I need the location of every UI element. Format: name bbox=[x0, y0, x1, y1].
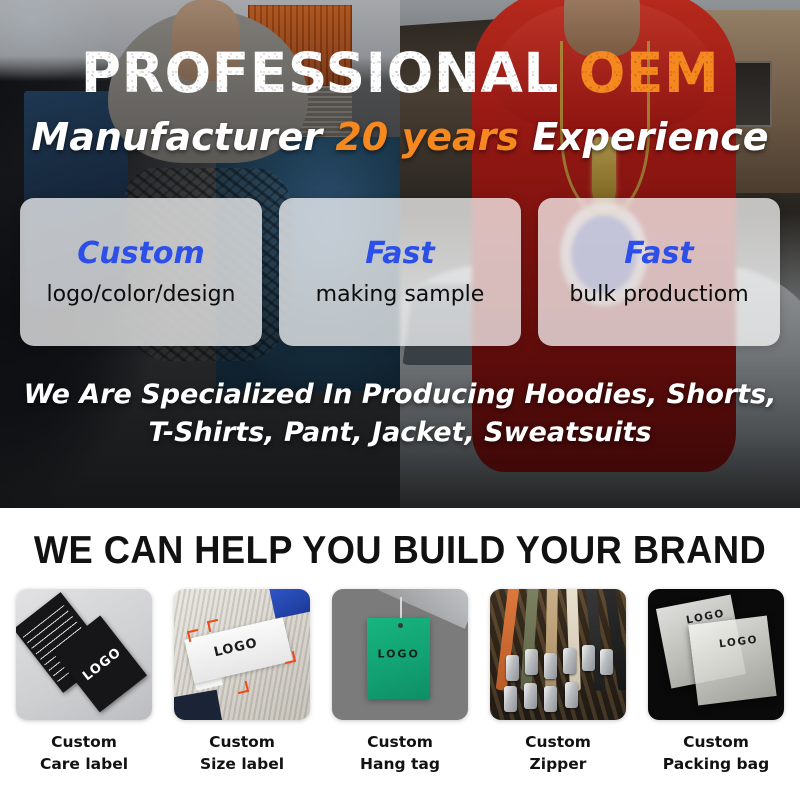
caption-line-1: Custom bbox=[40, 731, 128, 753]
brand-section-title: WE CAN HELP YOU BUILD YOUR BRAND bbox=[28, 508, 772, 573]
brand-item-caption: Custom Care label bbox=[40, 731, 128, 775]
size-label-image: LOGO bbox=[174, 589, 310, 720]
caption-line-2: Size label bbox=[200, 753, 284, 775]
zipper-pull bbox=[506, 655, 519, 681]
packing-bag-front bbox=[688, 616, 776, 706]
hang-tag-image: LOGO bbox=[332, 589, 468, 720]
brand-section: WE CAN HELP YOU BUILD YOUR BRAND LOGO Cu… bbox=[0, 508, 800, 800]
hang-tag-hole bbox=[398, 623, 403, 628]
feature-card-list: Custom logo/color/design Fast making sam… bbox=[20, 198, 780, 346]
brand-item-hang-tag[interactable]: LOGO Custom Hang tag bbox=[330, 589, 470, 775]
feature-card-subtitle: making sample bbox=[316, 284, 485, 306]
zipper-pull bbox=[600, 649, 613, 675]
zipper-pull bbox=[582, 645, 595, 671]
tagline-line-1: We Are Specialized In Producing Hoodies,… bbox=[24, 376, 777, 414]
feature-card-custom[interactable]: Custom logo/color/design bbox=[20, 198, 262, 346]
corner-mark-icon bbox=[235, 680, 248, 693]
caption-line-1: Custom bbox=[663, 731, 769, 753]
feature-card-title: Fast bbox=[624, 239, 694, 269]
tagline-line-2: T-Shirts, Pant, Jacket, Sweatsuits bbox=[24, 414, 777, 452]
promo-banner: PROFESSIONAL OEM Manufacturer 20 years E… bbox=[0, 0, 800, 800]
logo-text: LOGO bbox=[212, 636, 259, 661]
brand-item-zipper[interactable]: Custom Zipper bbox=[488, 589, 628, 775]
feature-card-title: Custom bbox=[77, 239, 204, 269]
feature-card-sample[interactable]: Fast making sample bbox=[279, 198, 521, 346]
brand-item-caption: Custom Zipper bbox=[525, 731, 591, 775]
green-hang-tag: LOGO bbox=[367, 618, 430, 699]
care-label-image: LOGO bbox=[16, 589, 152, 720]
feature-card-subtitle: bulk productiom bbox=[569, 284, 748, 306]
brand-item-list: LOGO Custom Care label LOGO bbox=[0, 589, 800, 775]
hero-section: PROFESSIONAL OEM Manufacturer 20 years E… bbox=[0, 0, 800, 508]
zipper-pull bbox=[524, 683, 537, 709]
brand-item-size-label[interactable]: LOGO Custom Size label bbox=[172, 589, 312, 775]
subheading-accent-years: 20 years bbox=[335, 115, 519, 159]
zipper-pull bbox=[544, 653, 557, 679]
zipper-image bbox=[490, 589, 626, 720]
feature-card-subtitle: logo/color/design bbox=[47, 284, 236, 306]
caption-line-2: Care label bbox=[40, 753, 128, 775]
caption-line-2: Hang tag bbox=[360, 753, 440, 775]
subheading-part1: Manufacturer bbox=[31, 115, 322, 159]
brand-item-caption: Custom Size label bbox=[200, 731, 284, 775]
hero-tagline: We Are Specialized In Producing Hoodies,… bbox=[24, 376, 777, 453]
caption-line-1: Custom bbox=[525, 731, 591, 753]
caption-line-1: Custom bbox=[360, 731, 440, 753]
packing-bag-image: LOGO LOGO bbox=[648, 589, 784, 720]
zipper-pull bbox=[563, 648, 576, 674]
feature-card-bulk-production[interactable]: Fast bulk productiom bbox=[538, 198, 780, 346]
corner-mark-icon bbox=[186, 629, 199, 642]
brand-item-care-label[interactable]: LOGO Custom Care label bbox=[14, 589, 154, 775]
hero-subheading: Manufacturer 20 years Experience bbox=[31, 118, 768, 156]
headline-word-oem: OEM bbox=[579, 46, 720, 101]
feature-card-title: Fast bbox=[365, 239, 435, 269]
subheading-part2: Experience bbox=[532, 115, 768, 159]
caption-line-2: Packing bag bbox=[663, 753, 769, 775]
zipper-pull bbox=[544, 686, 557, 712]
page-title: PROFESSIONAL OEM bbox=[81, 46, 719, 101]
zipper-pull bbox=[504, 686, 517, 712]
logo-text: LOGO bbox=[377, 648, 419, 661]
hero-content: PROFESSIONAL OEM Manufacturer 20 years E… bbox=[0, 0, 800, 508]
headline-word-professional: PROFESSIONAL bbox=[81, 46, 559, 101]
brand-item-caption: Custom Hang tag bbox=[360, 731, 440, 775]
brand-item-packing-bag[interactable]: LOGO LOGO Custom Packing bag bbox=[646, 589, 786, 775]
zipper-pull bbox=[565, 682, 578, 708]
caption-line-2: Zipper bbox=[525, 753, 591, 775]
caption-line-1: Custom bbox=[200, 731, 284, 753]
brand-item-caption: Custom Packing bag bbox=[663, 731, 769, 775]
corner-mark-icon bbox=[283, 651, 296, 664]
zipper-pull bbox=[525, 649, 538, 675]
